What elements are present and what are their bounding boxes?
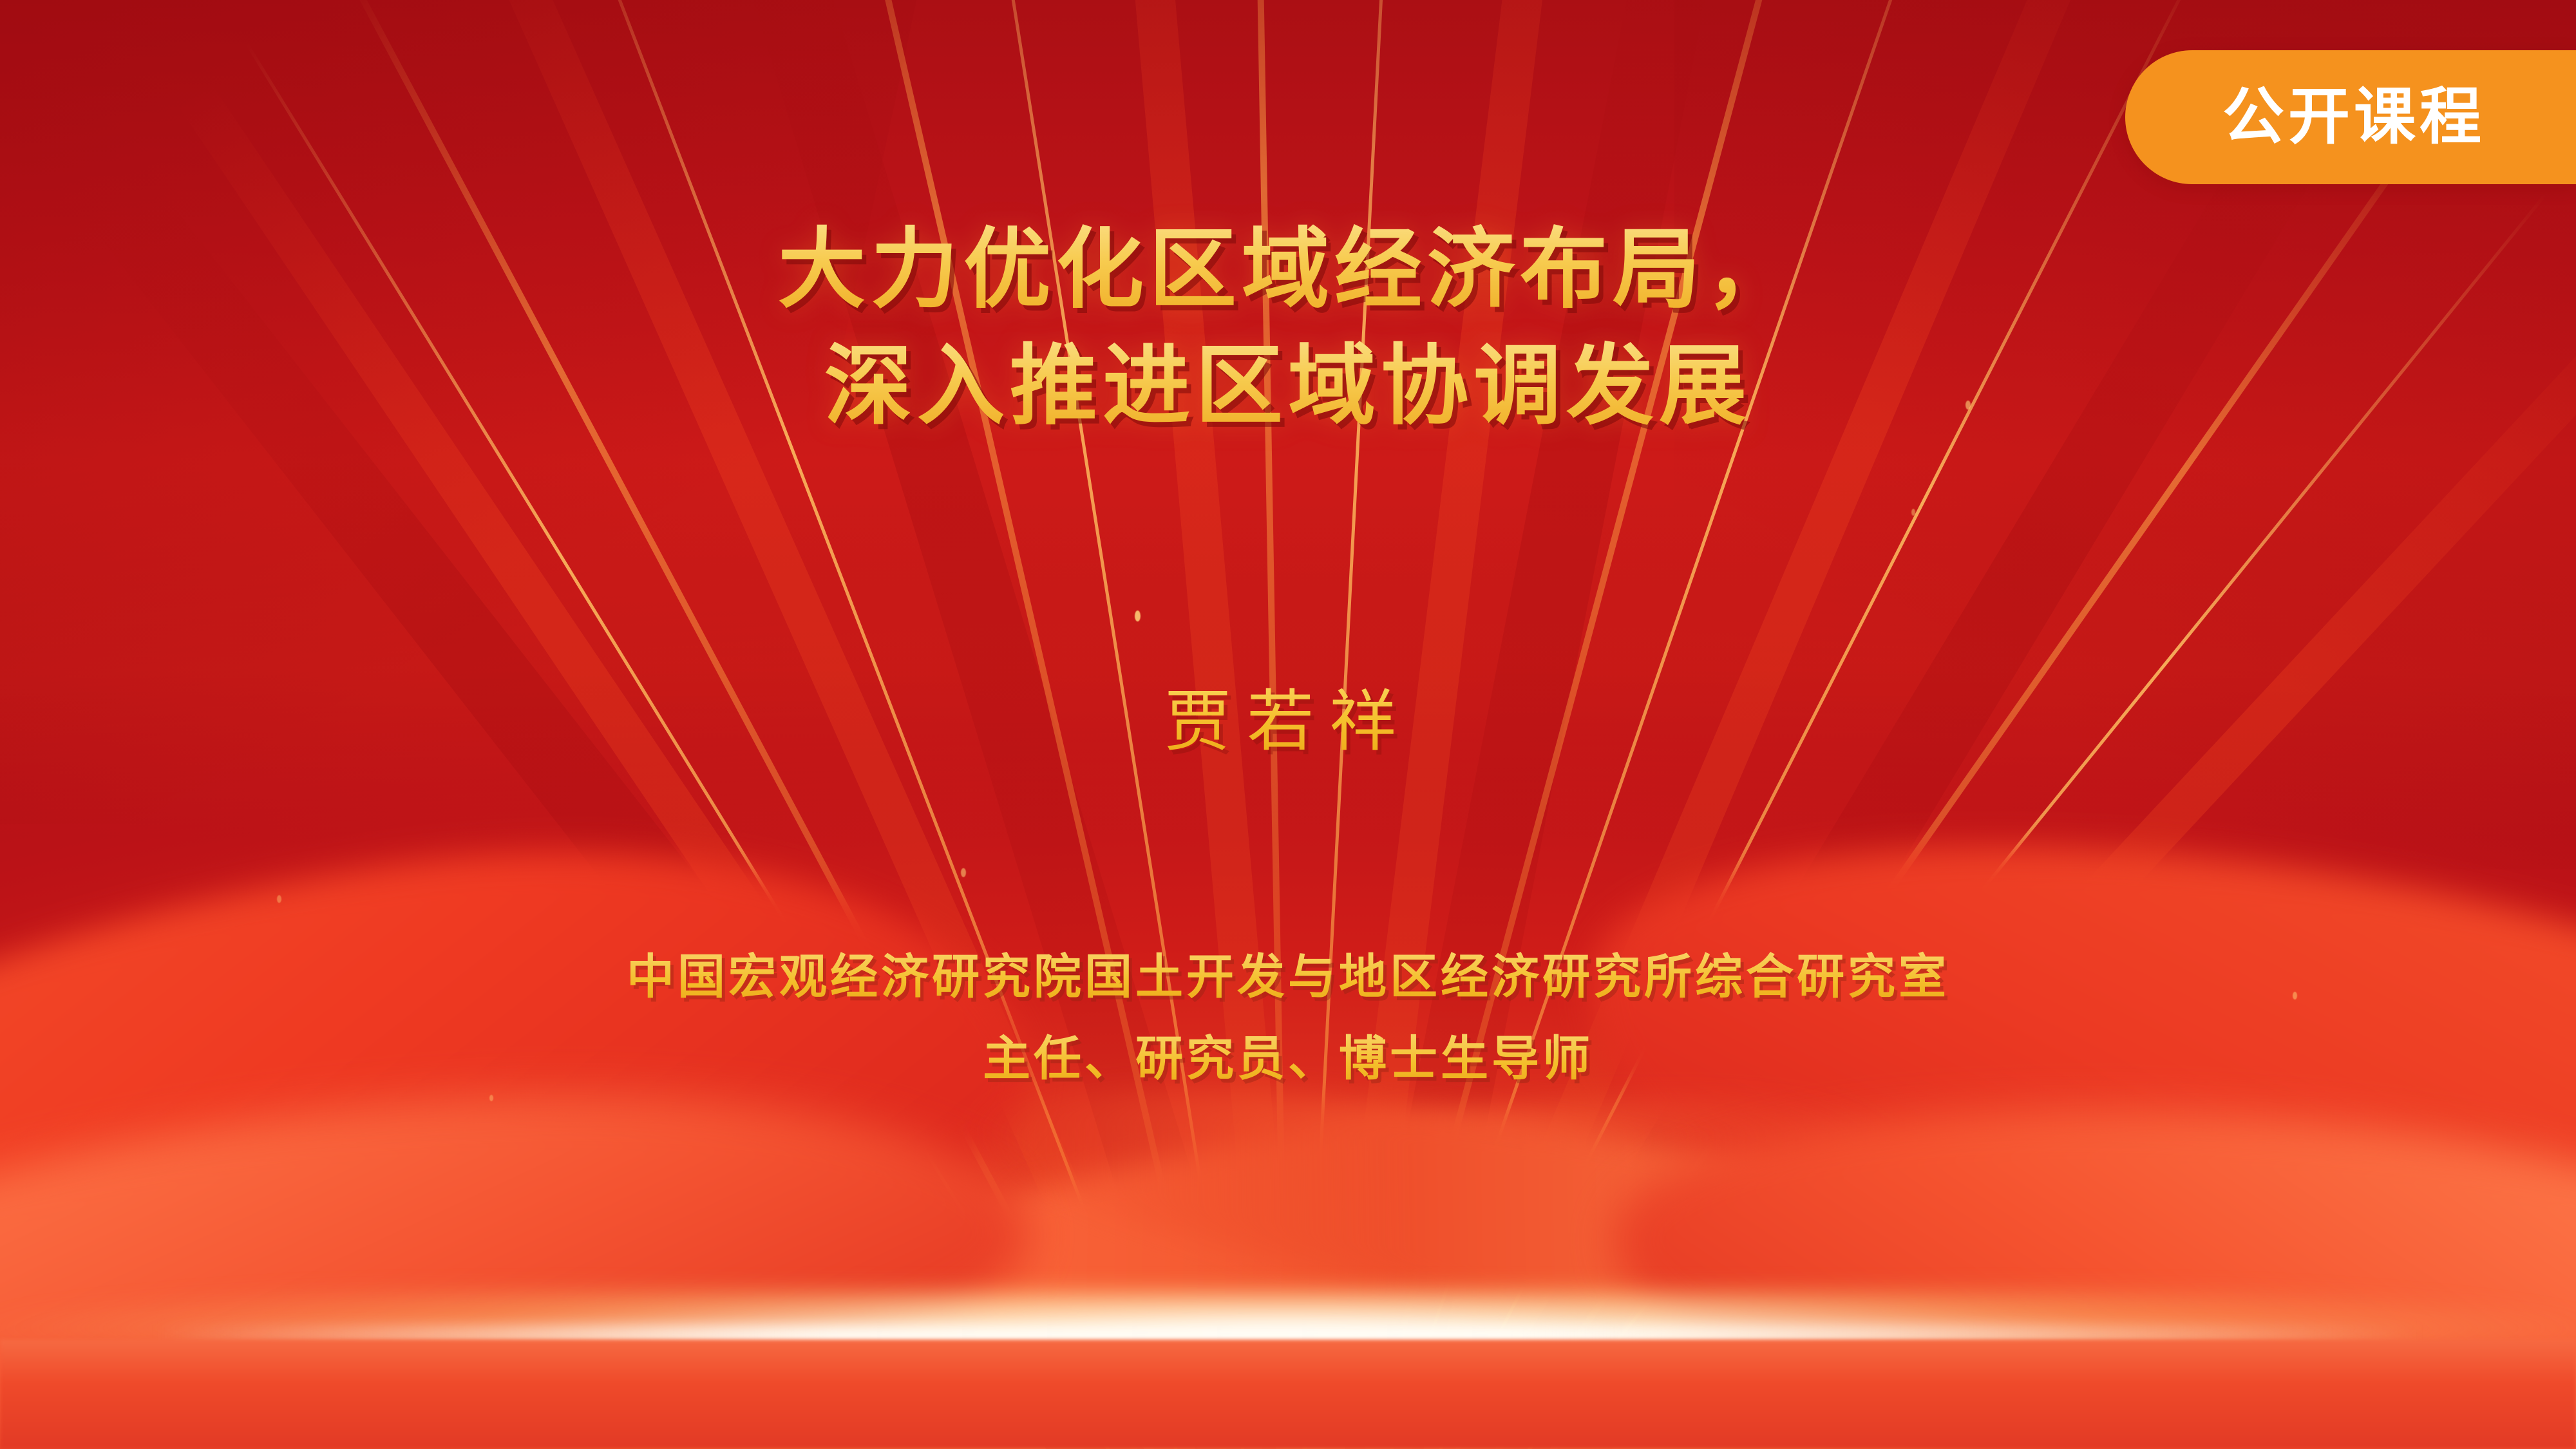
affiliation-line-2: 主任、研究员、博士生导师: [0, 1019, 2576, 1101]
affiliation-line-1: 中国宏观经济研究院国土开发与地区经济研究所综合研究室: [0, 937, 2576, 1019]
title-line-1: 大力优化区域经济布局，: [0, 213, 2576, 329]
slide-canvas: 公开课程 大力优化区域经济布局， 深入推进区域协调发展 贾若祥 中国宏观经济研究…: [0, 0, 2576, 1449]
title-line-2: 深入推进区域协调发展: [0, 329, 2576, 446]
speaker-affiliation: 中国宏观经济研究院国土开发与地区经济研究所综合研究室 主任、研究员、博士生导师: [0, 937, 2576, 1101]
page-title: 大力优化区域经济布局， 深入推进区域协调发展: [0, 213, 2576, 446]
speaker-name: 贾若祥: [0, 667, 2576, 764]
slide-content: 大力优化区域经济布局， 深入推进区域协调发展 贾若祥 中国宏观经济研究院国土开发…: [0, 0, 2576, 1449]
